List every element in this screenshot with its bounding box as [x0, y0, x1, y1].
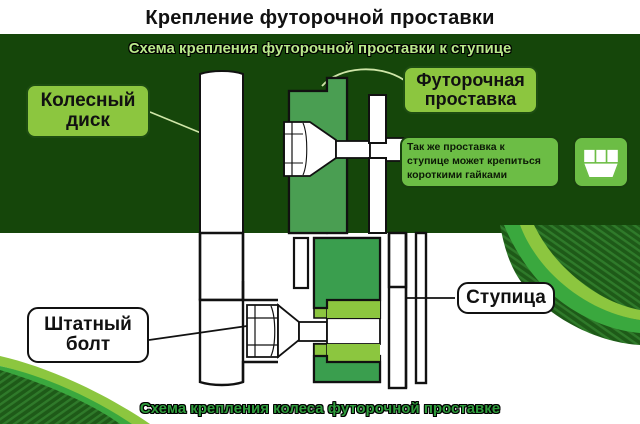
- hub-plate-upper-bottom: [369, 158, 386, 233]
- callout-spacer-line1: Футорочная: [416, 71, 525, 90]
- callout-futoroch-spacer[interactable]: Футорочная проставка: [403, 66, 538, 114]
- disc-recess-top: [243, 281, 278, 300]
- stud-shaft-upper: [336, 141, 370, 158]
- diagram-page: Крепление футорочной проставки Схема кре…: [0, 0, 640, 424]
- callout-bolt-line1: Штатный: [44, 315, 132, 335]
- callout-wheel-disc[interactable]: Колесный диск: [26, 84, 150, 138]
- stock-bolt-cone: [278, 305, 299, 357]
- hub-plate-lower-2: [416, 233, 426, 383]
- spacer-insert-accent-top: [314, 308, 327, 318]
- short-nuts-icon: [575, 138, 627, 186]
- callout-spacer-line2: проставка: [425, 90, 517, 109]
- callout-wheel-disc-line2: диск: [66, 111, 110, 131]
- wheel-disc-upper: [200, 71, 243, 240]
- wheel-disc-lower-flange: [200, 300, 243, 385]
- bottom-banner-text: Схема крепления колеса футорочной проста…: [0, 396, 640, 420]
- hub-plate-upper-top: [369, 95, 386, 143]
- wheel-disc-lower: [200, 233, 243, 300]
- short-nuts-icon-box[interactable]: [573, 136, 629, 188]
- upper-scheme-group: [150, 69, 408, 240]
- spacer-thread-zone-top: [327, 300, 380, 318]
- callout-wheel-disc-line1: Колесный: [41, 91, 136, 111]
- stock-bolt-shank: [299, 322, 327, 341]
- callout-note-line2: ступице может крепиться: [407, 155, 553, 169]
- callout-note-line1: Так же проставка к: [407, 141, 553, 155]
- spacer-thread-zone-bottom: [327, 344, 380, 362]
- top-banner-text: Схема крепления футорочной проставки к с…: [0, 36, 640, 60]
- callout-short-nuts-note[interactable]: Так же проставка к ступице может крепить…: [400, 136, 560, 188]
- callout-stock-bolt[interactable]: Штатный болт: [27, 307, 149, 363]
- spacer-slot-lower: [294, 238, 308, 288]
- lower-scheme-group: [149, 233, 455, 388]
- callout-note-line3: короткими гайками: [407, 169, 553, 183]
- callout-hub[interactable]: Ступица: [457, 282, 555, 314]
- disc-recess-bottom: [243, 362, 278, 382]
- page-title: Крепление футорочной проставки: [0, 2, 640, 34]
- leader-wheel-disc: [150, 112, 201, 133]
- spacer-insert-accent-bottom: [314, 344, 327, 356]
- callout-hub-text: Ступица: [466, 288, 546, 308]
- callout-bolt-line2: болт: [66, 335, 110, 355]
- stock-bolt-thread: [327, 318, 380, 344]
- hub-plate-lower-slot: [389, 233, 406, 287]
